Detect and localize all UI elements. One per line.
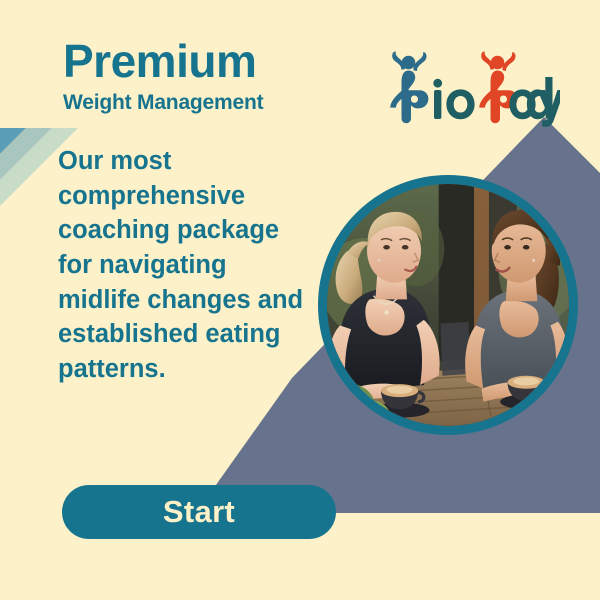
- start-button[interactable]: Start: [62, 485, 336, 539]
- header: Premium Weight Management: [0, 0, 600, 140]
- body-copy: Our most comprehensive coaching package …: [58, 144, 306, 387]
- title-block: Premium Weight Management: [63, 38, 263, 115]
- logo-word-ody: [509, 77, 560, 127]
- page-title: Premium: [63, 38, 263, 85]
- photo-of-two-women: [327, 184, 569, 426]
- photo-illustration: [327, 184, 569, 426]
- dancing-figure-blue-icon: [390, 51, 428, 123]
- biobody-logo-icon: [385, 46, 560, 128]
- promo-card: Premium Weight Management: [0, 0, 600, 600]
- logo-word-io: [433, 79, 474, 119]
- page-subtitle: Weight Management: [63, 91, 263, 115]
- photo-circle-frame: [318, 175, 578, 435]
- biobody-logo[interactable]: [385, 46, 560, 128]
